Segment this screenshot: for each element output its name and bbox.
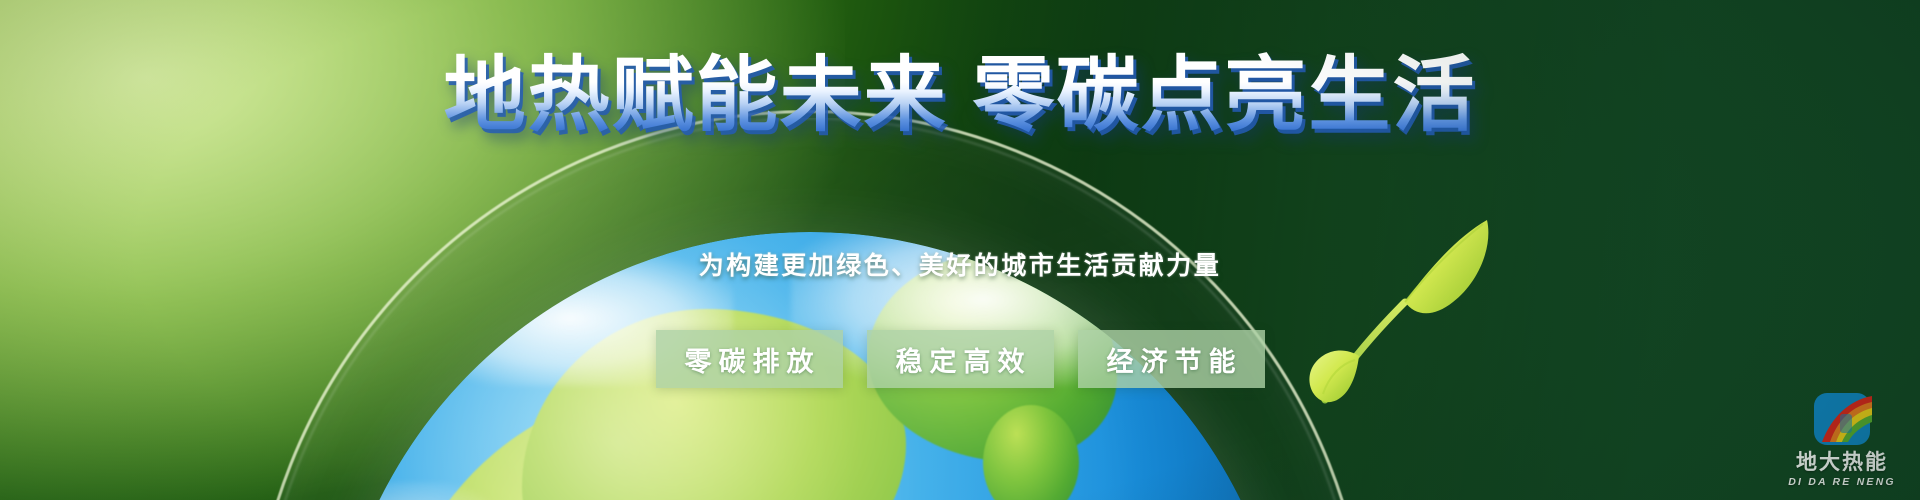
feature-tag-list: 零碳排放 稳定高效 经济节能 bbox=[0, 330, 1920, 388]
logo-name-cn: 地大热能 bbox=[1776, 452, 1908, 473]
feature-tag[interactable]: 经济节能 bbox=[1078, 330, 1265, 388]
logo-name-en: DI DA RE NENG bbox=[1776, 477, 1908, 488]
feature-tag[interactable]: 稳定高效 bbox=[867, 330, 1054, 388]
hero-banner: 地热赋能未来 零碳点亮生活 地热赋能未来 零碳点亮生活 为构建更加绿色、美好的城… bbox=[0, 0, 1920, 500]
didareneng-rainbow-mark bbox=[1776, 392, 1908, 446]
brand-logo[interactable]: 地大热能 DI DA RE NENG bbox=[1776, 392, 1908, 494]
page-title: 地热赋能未来 零碳点亮生活 bbox=[444, 52, 1477, 141]
page-subtitle: 为构建更加绿色、美好的城市生活贡献力量 bbox=[0, 246, 1920, 282]
feature-tag[interactable]: 零碳排放 bbox=[656, 330, 843, 388]
headline-area: 地热赋能未来 零碳点亮生活 地热赋能未来 零碳点亮生活 bbox=[0, 0, 1920, 141]
